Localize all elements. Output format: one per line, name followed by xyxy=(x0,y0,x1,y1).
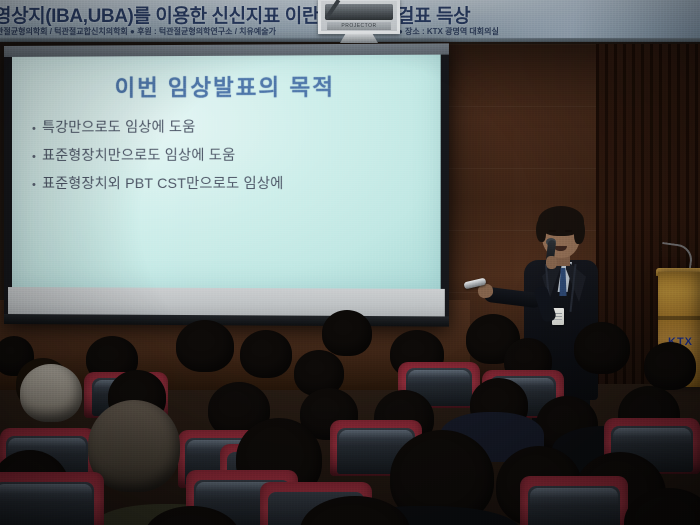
slide-bullet-list: • 특강만으로도 임상에 도움 • 표준형장치만으로도 임상에 도움 • 표준형… xyxy=(32,116,434,202)
seat-highlight xyxy=(530,488,618,506)
presenter-hair-side-right xyxy=(574,218,585,244)
slide-bullet-item: • 표준형장치만으로도 임상에 도움 xyxy=(32,144,434,165)
conference-photo-scene: 영상지(IBA,UBA)를 이용한 신신지표 이란 시됴사대 걸표 득상 관절균… xyxy=(0,0,700,525)
slide-bullet-item: • 특강만으로도 임상에 도움 xyxy=(32,116,434,137)
slide-bullet-text: 표준형장치만으로도 임상에 도움 xyxy=(42,145,235,165)
slide-bullet-text: 특강만으로도 임상에 도움 xyxy=(42,116,195,136)
audience-head xyxy=(322,310,372,356)
audience xyxy=(0,300,700,525)
seat-highlight xyxy=(339,430,413,446)
audience-head xyxy=(644,342,696,390)
banner-subtitle-right: ● 장소 : KTX 광명역 대회의실 xyxy=(398,26,499,37)
bullet-marker-icon: • xyxy=(32,179,42,191)
slide-surface: 이번 임상발표의 목적 • 특강만으로도 임상에 도움 • 표준형장치만으로도 … xyxy=(12,55,441,289)
projector-ceiling-bracket xyxy=(340,34,378,43)
projector-label: PROJECTOR xyxy=(327,22,391,30)
presenter-hair-side-left xyxy=(536,218,546,242)
ceiling-projector-icon: PROJECTOR xyxy=(318,0,400,34)
audience-head xyxy=(20,364,82,422)
presenter-eye-right xyxy=(565,230,572,232)
seat-highlight xyxy=(0,484,92,502)
seat-highlight xyxy=(408,370,470,384)
presenter-eye-left xyxy=(549,230,556,232)
bullet-marker-icon: • xyxy=(32,123,42,135)
audience-head xyxy=(240,330,292,378)
audience-head xyxy=(176,320,234,372)
slide-bullet-text: 표준형장치외 PBT CST만으로도 임상에 xyxy=(42,173,284,193)
bullet-marker-icon: • xyxy=(32,151,42,163)
slide-title: 이번 임상발표의 목적 xyxy=(12,69,441,103)
presenter-hand-right xyxy=(546,256,557,269)
banner-subtitle-left: 관절균형의학회 / 턱관절교합신치의학회 ● 후원 : 턱관절균형의학연구소 /… xyxy=(0,26,276,37)
slide-bullet-item: • 표준형장치외 PBT CST만으로도 임상에 xyxy=(32,173,434,193)
audience-head xyxy=(574,322,630,374)
projection-screen: 이번 임상발표의 목적 • 특강만으로도 임상에 도움 • 표준형장치만으로도 … xyxy=(4,43,449,326)
seat-highlight xyxy=(613,428,691,444)
